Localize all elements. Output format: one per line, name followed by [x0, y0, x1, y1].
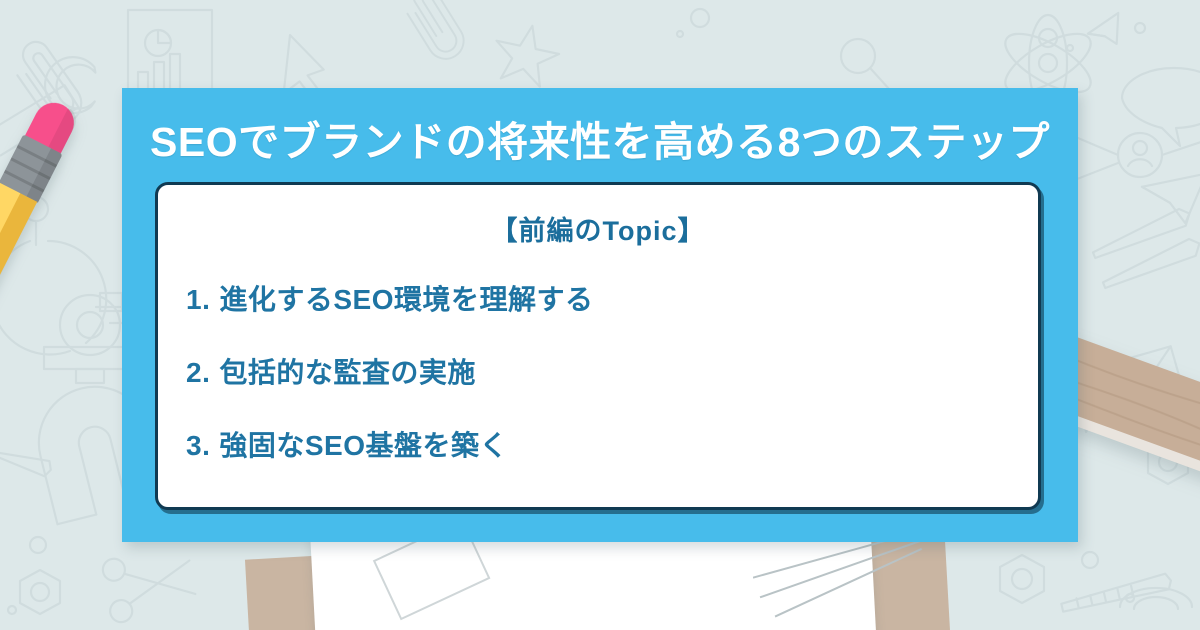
page-title: SEOでブランドの将来性を高める8つのステップ — [122, 98, 1078, 178]
list-item-label: 強固なSEO基盤を築く — [219, 424, 508, 464]
pencil — [0, 95, 83, 410]
banner: SEOでブランドの将来性を高める8つのステップ 【前編のTopic】 1. 進化… — [122, 88, 1078, 542]
topic-list: 1. 進化するSEO環境を理解する 2. 包括的な監査の実施 3. 強固なSEO… — [158, 278, 1038, 464]
list-item-number: 2. — [186, 357, 210, 389]
pencil-body — [0, 183, 37, 425]
list-item-number: 1. — [186, 284, 210, 316]
list-item-number: 3. — [186, 430, 210, 462]
list-item-label: 進化するSEO環境を理解する — [219, 278, 593, 318]
list-item: 3. 強固なSEO基盤を築く — [186, 424, 1038, 464]
list-item: 1. 進化するSEO環境を理解する — [186, 278, 1038, 318]
list-item-label: 包括的な監査の実施 — [219, 351, 476, 391]
list-item: 2. 包括的な監査の実施 — [186, 351, 1038, 391]
topic-heading: 【前編のTopic】 — [158, 209, 1038, 248]
topic-card: 【前編のTopic】 1. 進化するSEO環境を理解する 2. 包括的な監査の実… — [155, 182, 1041, 510]
